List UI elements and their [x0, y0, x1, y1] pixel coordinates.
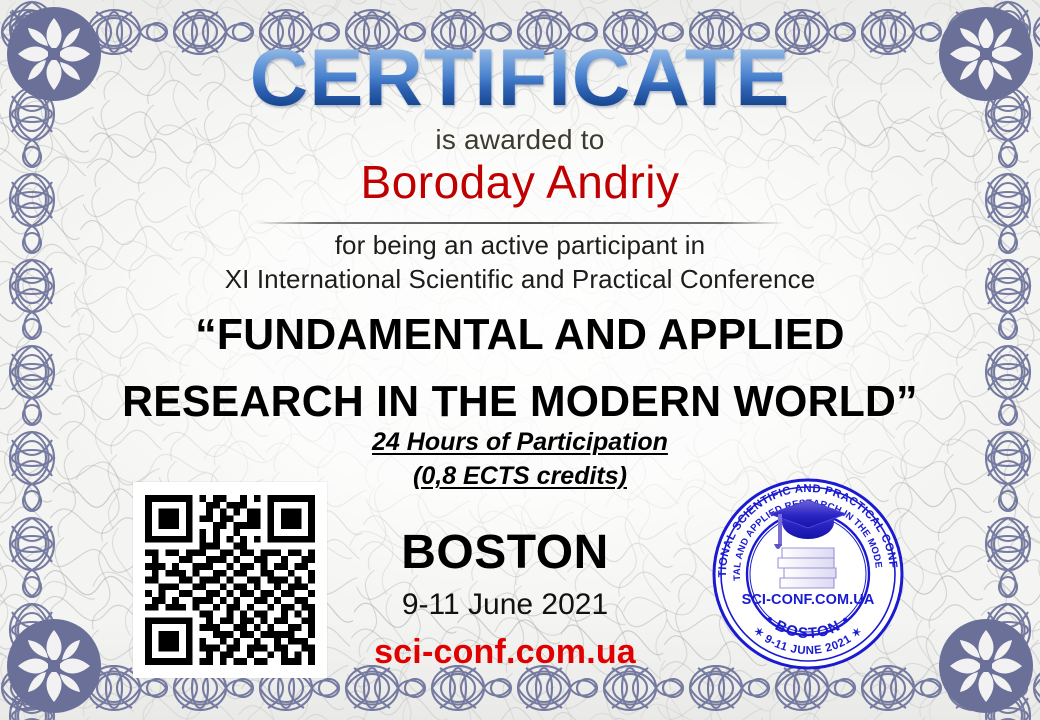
participation-line-2: XI International Scientific and Practica…: [0, 264, 1040, 295]
awarded-to-label: is awarded to: [0, 124, 1040, 156]
conference-seal: INTERNATIONAL SCIENTIFIC AND PRACTICAL C…: [708, 474, 908, 674]
recipient-name: Boroday Andriy: [0, 155, 1040, 209]
certificate-title: CERTIFICATE: [0, 38, 1040, 119]
qr-code[interactable]: [133, 482, 327, 678]
participation-line-1: for being an active participant in: [0, 230, 1040, 261]
conference-date: 9-11 June 2021: [330, 588, 680, 622]
name-divider-rule: [255, 222, 785, 224]
certificate-document: CERTIFICATE is awarded to Boroday Andriy…: [0, 0, 1040, 720]
seal-center-text: SCI-CONF.COM.UA: [742, 592, 875, 608]
conference-city: BOSTON: [330, 525, 680, 580]
hours-of-participation: 24 Hours of Participation: [0, 428, 1040, 457]
conference-website: sci-conf.com.ua: [330, 633, 680, 672]
conference-title-line-2: RESEARCH IN THE MODERN WORLD”: [16, 377, 1025, 427]
conference-title-line-1: “FUNDAMENTAL AND APPLIED: [16, 310, 1025, 360]
qr-code-image: [145, 495, 315, 665]
